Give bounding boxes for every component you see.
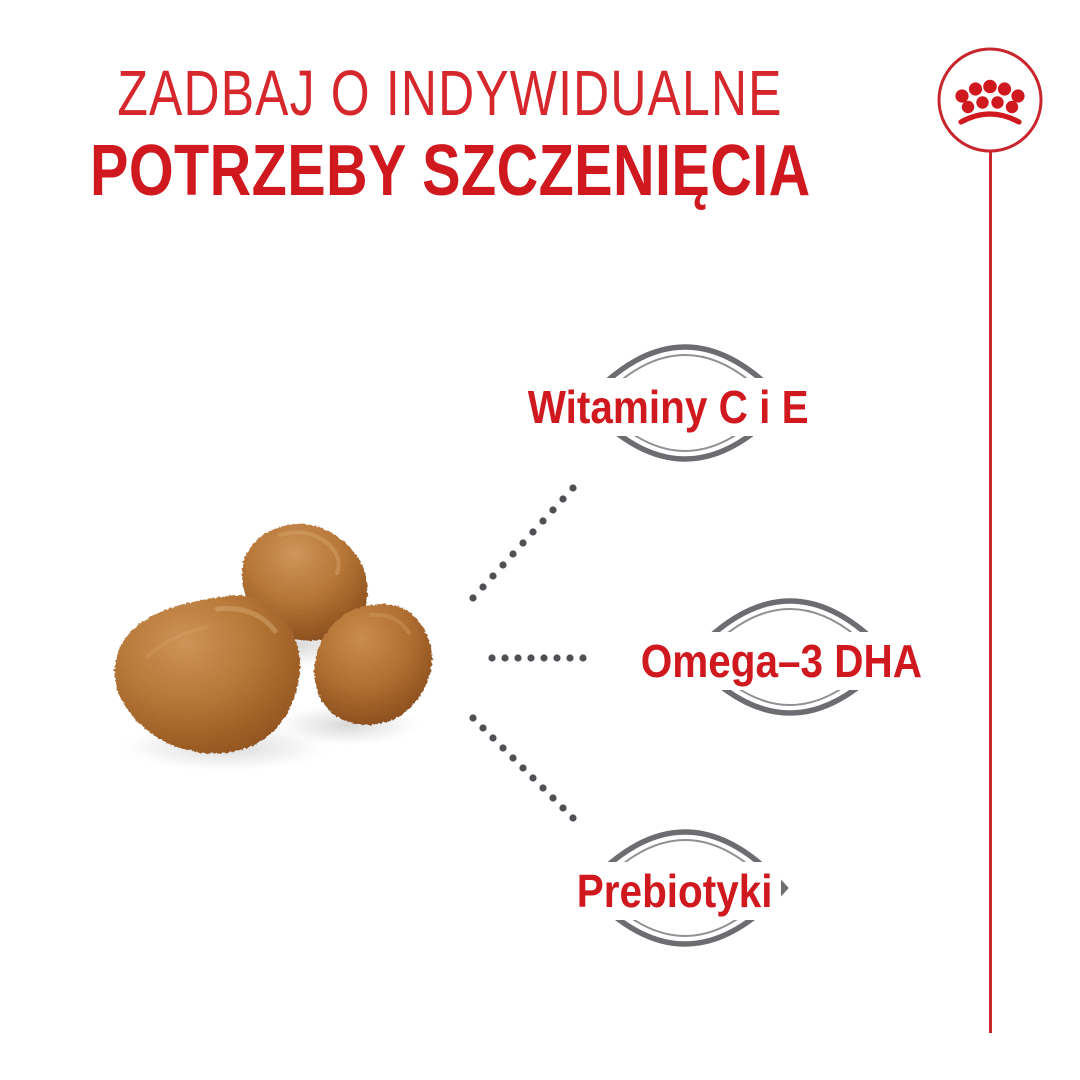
logo-vertical-rule bbox=[989, 151, 992, 1033]
benefit-label-vitamins: Witaminy C i E bbox=[519, 378, 817, 436]
connector-dots-omega3 bbox=[486, 648, 601, 668]
connector-dots-vitamins bbox=[455, 470, 595, 620]
kibble-photo bbox=[75, 495, 455, 795]
royal-canin-crown-icon bbox=[930, 40, 1050, 160]
title-line-2: POTRZEBY SZCZENIĘCIA bbox=[90, 132, 810, 210]
benefit-label-omega3: Omega–3 DHA bbox=[632, 632, 931, 690]
page-title: ZADBAJ O INDYWIDUALNE POTRZEBY SZCZENIĘC… bbox=[0, 58, 900, 210]
title-line-1: ZADBAJ O INDYWIDUALNE bbox=[99, 58, 801, 128]
benefit-label-prebiotics: Prebiotyki bbox=[568, 862, 781, 920]
poster-canvas: ZADBAJ O INDYWIDUALNE POTRZEBY SZCZENIĘC… bbox=[0, 0, 1080, 1080]
connector-dots-prebiotics bbox=[455, 705, 595, 835]
